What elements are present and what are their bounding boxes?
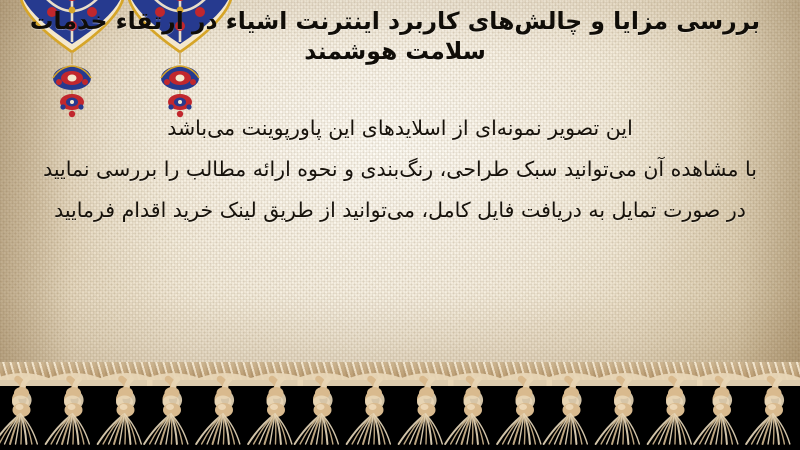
fringe-tassel (295, 373, 350, 444)
slide-body: این تصویر نمونه‌ای از اسلایدهای این پاور… (0, 108, 800, 231)
fringe-tassel (196, 373, 251, 444)
fringe-tassel (694, 373, 749, 444)
fringe-tassel (544, 373, 599, 444)
fringe-tassel (596, 373, 651, 444)
fringe-tassel (497, 373, 552, 444)
fringe-tassel (347, 373, 402, 444)
title-line-2: سلامت هوشمند (0, 36, 790, 66)
fringe-tassel (98, 373, 153, 444)
slide-canvas: بررسی مزایا و چالش‌های کاربرد اینترنت اش… (0, 0, 800, 450)
body-line-1: این تصویر نمونه‌ای از اسلایدهای این پاور… (0, 108, 800, 149)
fringe-tassel (746, 373, 800, 444)
slide-title: بررسی مزایا و چالش‌های کاربرد اینترنت اش… (0, 6, 790, 66)
fringe-tassel (399, 373, 454, 444)
fringe-tassel (46, 373, 101, 444)
fringe-tassel (648, 373, 703, 444)
fringe-tassel (248, 373, 303, 444)
title-line-1: بررسی مزایا و چالش‌های کاربرد اینترنت اش… (0, 6, 790, 36)
fringe-tassels (0, 362, 800, 450)
body-line-3: در صورت تمایل به دریافت فایل کامل، می‌تو… (0, 190, 800, 231)
fringe-tassel (445, 373, 500, 444)
fringe-tassel (144, 373, 199, 444)
body-line-2: با مشاهده آن می‌توانید سبک طراحی، رنگ‌بن… (0, 149, 800, 190)
carpet-fringe (0, 362, 800, 450)
fringe-tassel (0, 373, 49, 444)
